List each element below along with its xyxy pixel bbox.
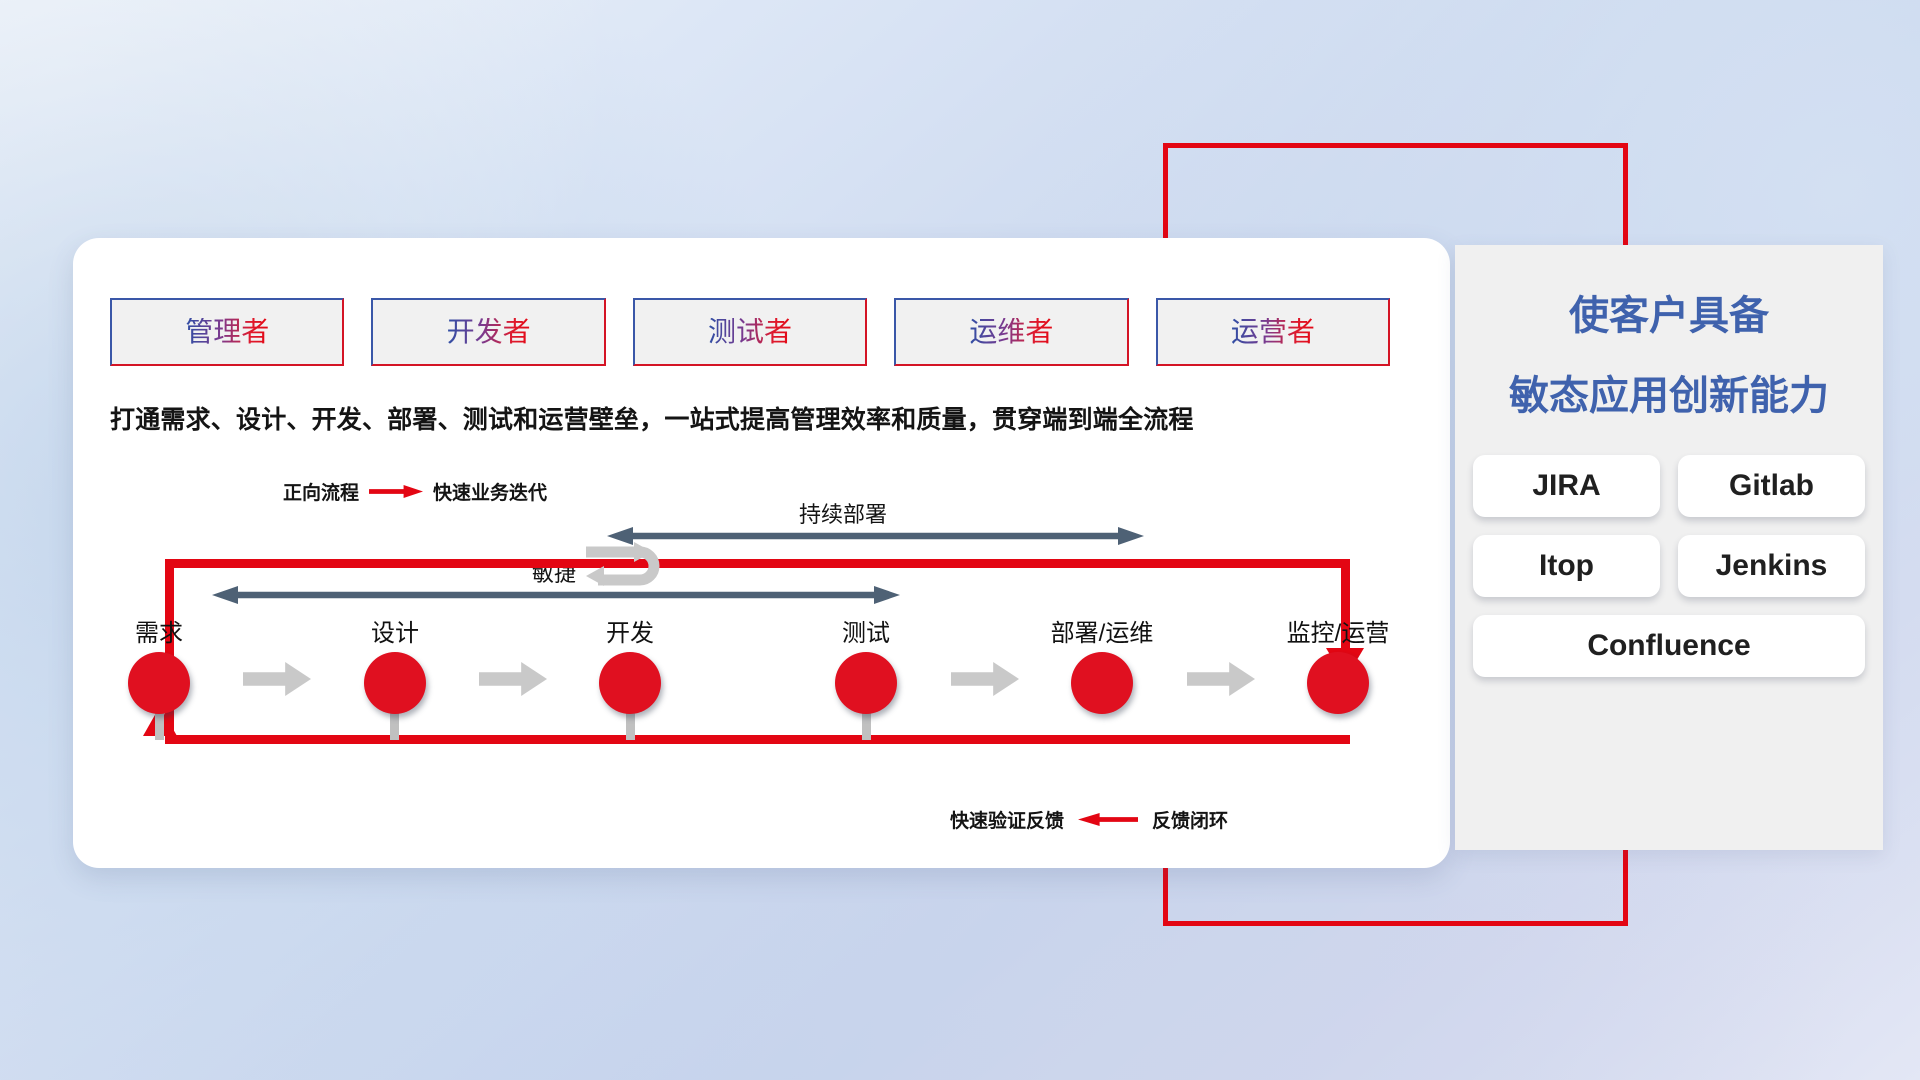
- red-frame-top: [1163, 143, 1628, 148]
- tool-itop[interactable]: Itop: [1473, 535, 1660, 597]
- red-loop-bottom: [165, 735, 1350, 744]
- red-frame-bottom: [1163, 921, 1628, 926]
- slide-canvas: 管理者 开发者 测试者 运维者 运营者 打通需求、设计、开发、部署、测试和运营壁…: [0, 0, 1920, 1080]
- headline-text: 打通需求、设计、开发、部署、测试和运营壁垒，一站式提高管理效率和质量，贯穿端到端…: [110, 400, 1400, 436]
- forward-flow-legend: 正向流程 快速业务迭代: [283, 478, 547, 505]
- stage-dot-icon: [128, 652, 190, 714]
- stage-label: 测试: [801, 613, 931, 648]
- panel-heading-line2: 敏态应用创新能力: [1455, 363, 1883, 421]
- feedback-closed-loop-label: 反馈闭环: [1152, 806, 1228, 833]
- iteration-uturn-icon: [582, 540, 668, 596]
- stage-design[interactable]: 设计: [330, 613, 460, 714]
- stage-label: 监控/运营: [1273, 613, 1403, 648]
- stage-development[interactable]: 开发: [565, 613, 695, 714]
- arrow-right-red-icon: [369, 485, 423, 498]
- stage-label: 需求: [94, 613, 224, 648]
- role-box-ops[interactable]: 运维者: [894, 298, 1128, 366]
- role-label: 运维者: [969, 318, 1053, 346]
- red-loop-top: [165, 559, 1350, 568]
- forward-flow-label: 正向流程: [283, 478, 359, 505]
- stage-deploy-ops[interactable]: 部署/运维: [1037, 613, 1167, 714]
- role-box-operations[interactable]: 运营者: [1156, 298, 1390, 366]
- stage-label: 开发: [565, 613, 695, 648]
- tool-confluence[interactable]: Confluence: [1473, 615, 1865, 677]
- fast-iteration-label: 快速业务迭代: [433, 478, 547, 505]
- tool-jira[interactable]: JIRA: [1473, 455, 1660, 517]
- role-box-tester[interactable]: 测试者: [633, 298, 867, 366]
- stage-dot-icon: [835, 652, 897, 714]
- tool-gitlab[interactable]: Gitlab: [1678, 455, 1865, 517]
- role-label: 测试者: [708, 318, 792, 346]
- arrow-left-red-icon: [1078, 813, 1138, 826]
- stage-label: 部署/运维: [1037, 613, 1167, 648]
- continuous-deployment-label: 持续部署: [799, 497, 887, 529]
- stage-label: 设计: [330, 613, 460, 648]
- stage-monitor-operations[interactable]: 监控/运营: [1273, 613, 1403, 714]
- tool-jenkins[interactable]: Jenkins: [1678, 535, 1865, 597]
- role-box-developer[interactable]: 开发者: [371, 298, 605, 366]
- role-box-row: 管理者 开发者 测试者 运维者 运营者: [110, 298, 1390, 366]
- panel-heading-line1: 使客户具备: [1455, 283, 1883, 341]
- stage-dot-icon: [1071, 652, 1133, 714]
- role-label: 管理者: [185, 318, 269, 346]
- stage-requirement[interactable]: 需求: [94, 613, 224, 714]
- capability-panel: 使客户具备 敏态应用创新能力 JIRA Gitlab Itop Jenkins …: [1455, 245, 1883, 850]
- tool-list: JIRA Gitlab Itop Jenkins Confluence: [1473, 455, 1865, 677]
- role-label: 运营者: [1231, 318, 1315, 346]
- feedback-loop-legend: 快速验证反馈 反馈闭环: [950, 806, 1228, 833]
- fast-verification-label: 快速验证反馈: [950, 806, 1064, 833]
- stage-dot-icon: [1307, 652, 1369, 714]
- stage-dot-icon: [364, 652, 426, 714]
- stage-dot-icon: [599, 652, 661, 714]
- role-label: 开发者: [447, 318, 531, 346]
- role-box-manager[interactable]: 管理者: [110, 298, 344, 366]
- stage-test[interactable]: 测试: [801, 613, 931, 714]
